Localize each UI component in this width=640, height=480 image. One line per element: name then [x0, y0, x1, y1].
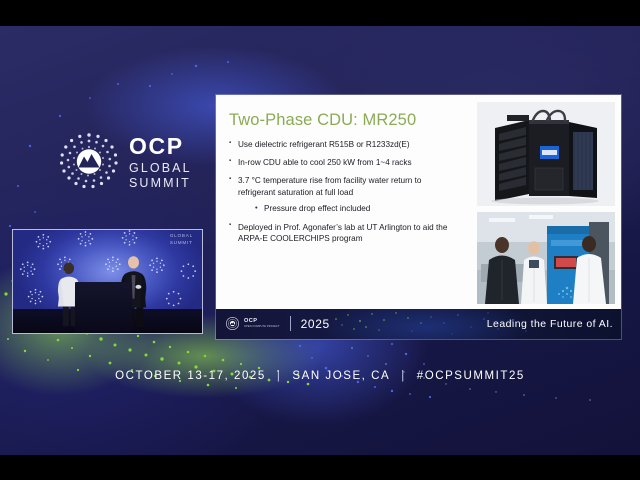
- footer-divider: [290, 316, 291, 331]
- bullet-item-sub: Pressure drop effect included: [255, 203, 461, 215]
- brand-summit-text: SUMMIT: [129, 177, 191, 190]
- slide-content-area: Two-Phase CDU: MR250 Use dielectric refr…: [216, 95, 621, 309]
- footer-tagline: Leading the Future of AI.: [487, 318, 613, 330]
- letterbox-top: [0, 0, 640, 26]
- lab-deployment-photo: [477, 212, 615, 304]
- live-speaker-video[interactable]: GLOBAL SUMMIT: [12, 229, 203, 334]
- presentation-stream-frame: OCP GLOBAL SUMMIT: [0, 0, 640, 480]
- event-separator-2: |: [401, 370, 406, 382]
- event-separator-1: |: [277, 370, 282, 382]
- slide-bullet-list: Use dielectric refrigerant R515B or R123…: [229, 139, 461, 251]
- event-hashtag: #OCPSUMMIT25: [417, 370, 525, 382]
- bullet-item: In-row CDU able to cool 250 kW from 1~4 …: [229, 157, 461, 169]
- bullet-item: Deployed in Prof. Agonafer’s lab at UT A…: [229, 222, 461, 245]
- footer-year: 2025: [301, 317, 330, 331]
- brand-wordmark: OCP GLOBAL SUMMIT: [129, 135, 192, 190]
- event-dates: OCTOBER 13-17, 2025: [115, 370, 266, 382]
- letterbox-bottom: [0, 455, 640, 480]
- brand-ocp-text: OCP: [129, 135, 184, 158]
- ocp-mountain-emblem-icon: [58, 131, 120, 193]
- footer-ocp-text: OCP: [244, 318, 257, 324]
- bullet-item: Use dielectric refrigerant R515B or R123…: [229, 139, 461, 151]
- lab-photo-illustration: [477, 212, 615, 304]
- footer-ocp-wordmark: OCP OPEN COMPUTE PROJECT: [244, 318, 280, 328]
- footer-ocp-subtext: OPEN COMPUTE PROJECT: [244, 325, 280, 328]
- ocp-global-summit-logo: OCP GLOBAL SUMMIT: [58, 126, 198, 198]
- presentation-slide[interactable]: Two-Phase CDU: MR250 Use dielectric refr…: [216, 95, 621, 339]
- slide-footer-logo: OCP OPEN COMPUTE PROJECT 2025: [226, 316, 330, 331]
- event-info-banner: OCTOBER 13-17, 2025|SAN JOSE, CA|#OCPSUM…: [0, 370, 640, 382]
- ocp-emblem-icon: [226, 317, 239, 330]
- cdu-rack-photo: [477, 102, 615, 206]
- brand-global-text: GLOBAL: [129, 162, 192, 175]
- event-location: SAN JOSE, CA: [292, 370, 390, 382]
- podium-table: [75, 282, 132, 334]
- cdu-rack-illustration: [477, 102, 615, 206]
- bullet-item: 3.7 °C temperature rise from facility wa…: [229, 175, 461, 198]
- slide-title: Two-Phase CDU: MR250: [229, 111, 416, 130]
- slide-footer-band: OCP OPEN COMPUTE PROJECT 2025 Leading th…: [216, 309, 621, 339]
